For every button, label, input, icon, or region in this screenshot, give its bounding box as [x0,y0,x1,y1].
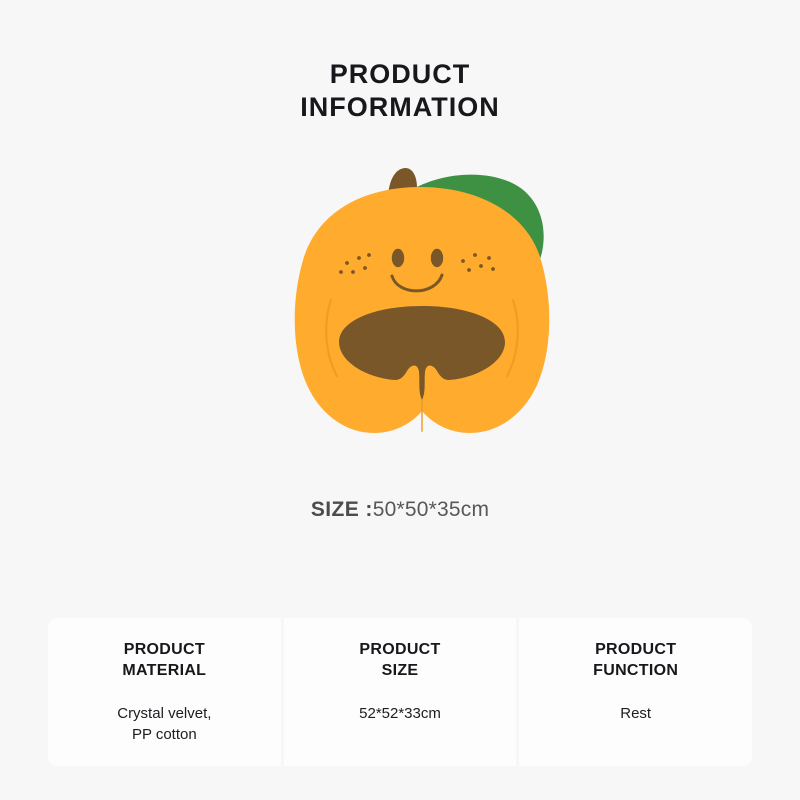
spec-cell-function: PRODUCT FUNCTION Rest [519,618,752,766]
spec-header-material-line-2: MATERIAL [122,660,206,681]
spec-value-size-line-1: 52*52*33cm [359,703,441,724]
right-eye-icon [431,249,443,267]
spec-cell-size: PRODUCT SIZE 52*52*33cm [284,618,517,766]
size-label: SIZE : [311,498,373,521]
spec-value-material: Crystal velvet, PP cotton [117,703,211,745]
spec-cell-material: PRODUCT MATERIAL Crystal velvet, PP cott… [48,618,281,766]
left-eye-icon [392,249,404,267]
spec-header-material: PRODUCT MATERIAL [122,639,206,681]
spec-header-function: PRODUCT FUNCTION [593,639,678,681]
product-illustration [265,148,575,448]
spec-value-size: 52*52*33cm [359,703,441,724]
spec-header-size-line-2: SIZE [359,660,440,681]
spec-value-function-line-1: Rest [620,703,651,724]
spec-header-size: PRODUCT SIZE [359,639,440,681]
spec-value-function: Rest [620,703,651,724]
spec-value-material-line-2: PP cotton [117,724,211,745]
product-information-page: PRODUCT INFORMATION [0,0,800,800]
spec-header-material-line-1: PRODUCT [122,639,206,660]
orange-plush-character-icon [265,148,575,448]
spec-value-material-line-1: Crystal velvet, [117,703,211,724]
spec-header-function-line-1: PRODUCT [593,639,678,660]
page-title: PRODUCT INFORMATION [0,58,800,124]
page-title-line-1: PRODUCT [0,58,800,91]
size-caption: SIZE :50*50*35cm [0,498,800,522]
spec-header-function-line-2: FUNCTION [593,660,678,681]
spec-header-size-line-1: PRODUCT [359,639,440,660]
page-title-line-2: INFORMATION [0,91,800,124]
size-value: 50*50*35cm [373,498,489,521]
spec-table: PRODUCT MATERIAL Crystal velvet, PP cott… [48,618,752,766]
